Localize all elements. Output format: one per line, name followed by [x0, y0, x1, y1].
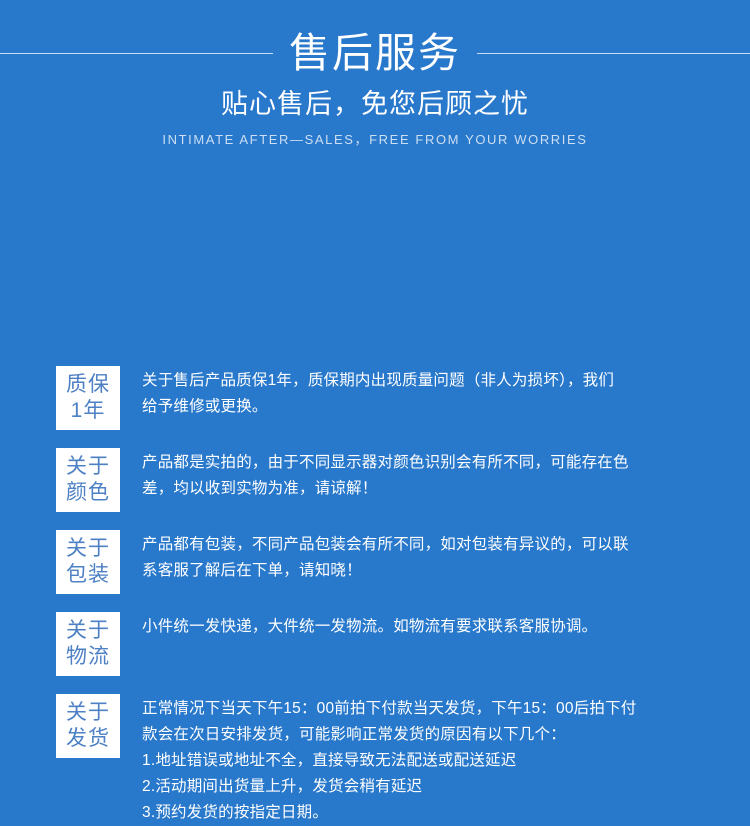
- title-rule-right: [477, 53, 750, 54]
- row-description-line: 小件统一发快递，大件统一发物流。如物流有要求联系客服协调。: [142, 614, 732, 640]
- row-description-line: 1.地址错误或地址不全，直接导致无法配送或配送延迟: [142, 748, 732, 774]
- badge-line: 质保: [66, 372, 110, 398]
- row-badge: 关于物流: [56, 612, 120, 676]
- row-description-line: 差，均以收到实物为准，请谅解！: [142, 476, 732, 502]
- badge-line: 颜色: [66, 480, 110, 506]
- badge-line: 关于: [66, 618, 110, 644]
- badge-line: 关于: [66, 454, 110, 480]
- row-description: 产品都有包装，不同产品包装会有所不同，如对包装有异议的，可以联系客服了解后在下单…: [142, 532, 732, 584]
- page-title: 售后服务: [273, 33, 477, 74]
- after-sales-service-banner: { "theme": { "background": "#2878cb", "b…: [0, 0, 750, 646]
- row-badge: 关于颜色: [56, 448, 120, 512]
- row-description-line: 正常情况下当天下午15：00前拍下付款当天发货，下午15：00后拍下付: [142, 696, 732, 722]
- row-description-line: 款会在次日安排发货，可能影响正常发货的原因有以下几个：: [142, 722, 732, 748]
- badge-line: 物流: [66, 644, 110, 670]
- badge-line: 发货: [66, 726, 110, 752]
- row-description-line: 关于售后产品质保1年，质保期内出现质量问题（非人为损坏），我们: [142, 368, 732, 394]
- row-description-line: 产品都有包装，不同产品包装会有所不同，如对包装有异议的，可以联: [142, 532, 732, 558]
- row-description: 产品都是实拍的，由于不同显示器对颜色识别会有所不同，可能存在色差，均以收到实物为…: [142, 450, 732, 502]
- row-description-line: 给予维修或更换。: [142, 394, 732, 420]
- row-description: 小件统一发快递，大件统一发物流。如物流有要求联系客服协调。: [142, 614, 732, 640]
- banner-header: 售后服务 贴心售后，免您后顾之忧 INTIMATE AFTER—SALES，FR…: [0, 0, 750, 175]
- row-badge: 质保1年: [56, 366, 120, 430]
- row-description-line: 产品都是实拍的，由于不同显示器对颜色识别会有所不同，可能存在色: [142, 450, 732, 476]
- row-description-line: 3.预约发货的按指定日期。: [142, 800, 732, 826]
- badge-line: 1年: [71, 398, 106, 424]
- subtitle-chinese: 贴心售后，免您后顾之忧: [0, 90, 750, 120]
- badge-line: 包装: [66, 562, 110, 588]
- subtitle-english: INTIMATE AFTER—SALES，FREE FROM YOUR WORR…: [0, 133, 750, 146]
- page-title-row: 售后服务: [0, 22, 750, 84]
- row-description-line: 系客服了解后在下单，请知晓！: [142, 558, 732, 584]
- row-description: 正常情况下当天下午15：00前拍下付款当天发货，下午15：00后拍下付款会在次日…: [142, 696, 732, 826]
- row-badge: 关于发货: [56, 694, 120, 758]
- badge-line: 关于: [66, 536, 110, 562]
- row-badge: 关于包装: [56, 530, 120, 594]
- row-description-line: 2.活动期间出货量上升，发货会稍有延迟: [142, 774, 732, 800]
- title-rule-left: [0, 53, 273, 54]
- row-description: 关于售后产品质保1年，质保期内出现质量问题（非人为损坏），我们给予维修或更换。: [142, 368, 732, 420]
- badge-line: 关于: [66, 700, 110, 726]
